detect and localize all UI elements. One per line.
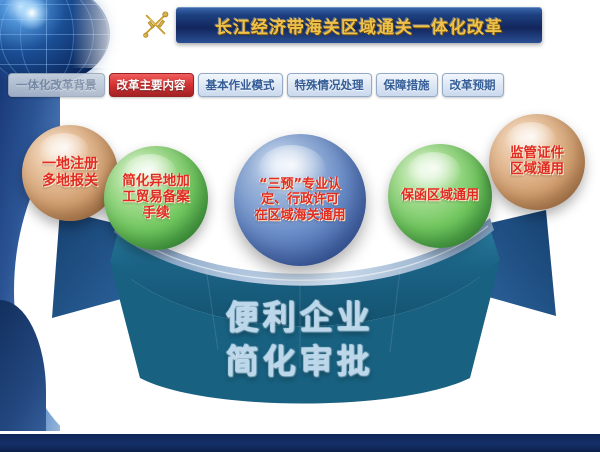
nav-tabs[interactable]: 一体化改革背景 改革主要内容 基本作业模式 特殊情况处理 保障措施 改革预期 [0,72,600,98]
sphere-label: 一地注册多地报关 [36,156,104,189]
tab-main-content[interactable]: 改革主要内容 [109,73,194,97]
sphere-label: 监管证件区域通用 [504,146,570,178]
page-title-banner: 长江经济带海关区域通关一体化改革 [176,7,542,43]
sphere-simplify-processing-trade[interactable]: 简化异地加工贸易备案手续 [104,146,208,250]
customs-emblem-icon [139,8,173,42]
tab-basic-mode[interactable]: 基本作业模式 [198,73,283,97]
sphere-regulatory-documents[interactable]: 监管证件区域通用 [489,114,585,210]
tab-expectations[interactable]: 改革预期 [442,73,504,97]
sphere-three-pre-certification[interactable]: “三预”专业认定、行政许可在区域海关通用 [234,134,366,266]
page-title: 长江经济带海关区域通关一体化改革 [215,13,503,38]
header: 长江经济带海关区域通关一体化改革 [0,0,600,68]
globe-fade [72,0,142,68]
tab-safeguards[interactable]: 保障措施 [376,73,438,97]
sphere-guarantee-regional-use[interactable]: 保函区域通用 [388,144,492,248]
sphere-label: 保函区域通用 [395,188,485,203]
tab-background[interactable]: 一体化改革背景 [8,73,105,97]
bottom-navy-bar [0,434,600,452]
slide-canvas: 长江经济带海关区域通关一体化改革 一体化改革背景 改革主要内容 基本作业模式 特… [0,0,600,452]
sphere-one-place-registration[interactable]: 一地注册多地报关 [22,125,118,221]
sphere-label: 简化异地加工贸易备案手续 [116,174,196,222]
tab-special-cases[interactable]: 特殊情况处理 [287,73,372,97]
sphere-label: “三预”专业认定、行政许可在区域海关通用 [248,177,351,223]
